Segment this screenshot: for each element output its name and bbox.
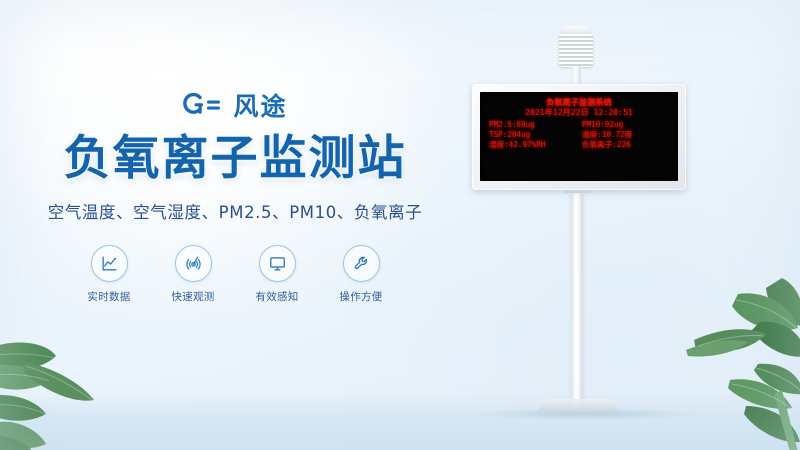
led-readings: PM2.5:69ug PM10:92ug TSP:204ug 温度:10.72度…: [489, 120, 669, 149]
led-display-frame: 负氧离子监测系统 2021年12月22日 12:20:51 PM2.5:69ug…: [472, 84, 686, 190]
feature-label: 实时数据: [80, 289, 138, 304]
led-reading-pm10: PM10:92ug: [582, 120, 669, 130]
plant-leaves-icon: [686, 276, 800, 450]
led-reading-negative-ions: 负氧离子:226: [582, 140, 669, 150]
feature-label: 有效感知: [248, 289, 306, 304]
radar-signal-icon: [175, 245, 212, 282]
wrench-icon: [343, 245, 380, 282]
fengtu-logo-icon: [182, 91, 224, 121]
feature-list: 实时数据 快速观测: [0, 245, 470, 304]
feature-item-easy-operation[interactable]: 操作方便: [332, 245, 390, 304]
brand-logo: 风途: [0, 86, 470, 126]
sensor-louvers: [559, 34, 593, 67]
led-reading-pm25: PM2.5:69ug: [489, 120, 576, 130]
led-reading-humidity: 湿度:42.97%RH: [489, 140, 576, 150]
led-datetime: 2021年12月22日 12:20:51: [489, 108, 669, 118]
feature-label: 操作方便: [332, 289, 390, 304]
base-plate-icon: [536, 399, 620, 412]
monitor-screen-icon: [259, 245, 296, 282]
brand-name: 风途: [233, 94, 287, 119]
hero-subtitle: 空气温度、空气湿度、PM2.5、PM10、负氧离子: [0, 199, 470, 223]
page-title: 负氧离子监测站: [0, 134, 470, 183]
led-reading-temperature: 温度:10.72度: [582, 130, 669, 140]
line-chart-icon: [91, 245, 128, 282]
plant-leaves-icon: [0, 318, 124, 450]
radiation-shield-sensor-icon: [556, 26, 596, 86]
feature-item-effective-sensing[interactable]: 有效感知: [248, 245, 306, 304]
feature-item-realtime-data[interactable]: 实时数据: [80, 245, 138, 304]
feature-item-fast-observation[interactable]: 快速观测: [164, 245, 222, 304]
hero-copy: 风途 负氧离子监测站 空气温度、空气湿度、PM2.5、PM10、负氧离子 实时数…: [0, 86, 470, 304]
led-display-screen[interactable]: 负氧离子监测系统 2021年12月22日 12:20:51 PM2.5:69ug…: [480, 92, 678, 181]
led-title: 负氧离子监测系统: [489, 98, 669, 108]
feature-label: 快速观测: [164, 289, 222, 304]
led-reading-tsp: TSP:204ug: [489, 130, 576, 140]
promo-banner: 风途 负氧离子监测站 空气温度、空气湿度、PM2.5、PM10、负氧离子 实时数…: [0, 0, 800, 450]
